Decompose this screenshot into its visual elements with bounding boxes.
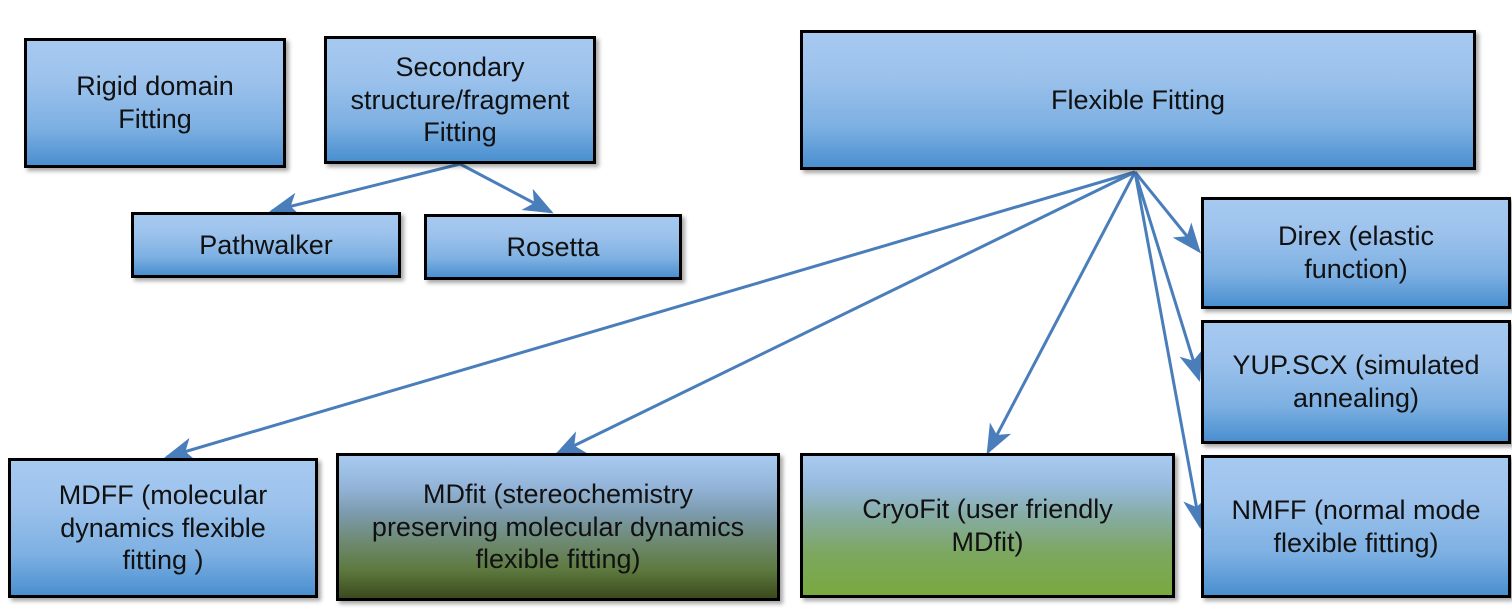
edge-ff-to-direx [1135, 172, 1199, 251]
node-cryofit[interactable]: CryoFit (user friendly MDfit) [800, 453, 1175, 598]
node-yup-scx[interactable]: YUP.SCX (simulated annealing) [1201, 320, 1511, 444]
node-rosetta[interactable]: Rosetta [424, 214, 682, 280]
edge-ss-to-pathwalker [272, 164, 460, 211]
edge-ff-to-cryofit [988, 172, 1135, 452]
node-pathwalker[interactable]: Pathwalker [131, 212, 401, 278]
node-secondary-structure-fragment-fitting[interactable]: Secondary structure/fragment Fitting [324, 36, 596, 164]
edge-ss-to-rosetta [460, 164, 551, 212]
edge-ff-to-yupscx [1135, 172, 1199, 379]
node-rigid-domain-fitting[interactable]: Rigid domain Fitting [24, 38, 286, 168]
node-flexible-fitting[interactable]: Flexible Fitting [800, 30, 1476, 170]
node-mdfit[interactable]: MDfit (stereochemistry preserving molecu… [336, 453, 780, 601]
node-nmff[interactable]: NMFF (normal mode flexible fitting) [1201, 455, 1511, 598]
diagram-canvas: Rigid domain Fitting Secondary structure… [0, 0, 1512, 610]
node-mdff[interactable]: MDFF (molecular dynamics flexible fittin… [8, 458, 318, 598]
node-direx[interactable]: Direx (elastic function) [1201, 197, 1511, 309]
